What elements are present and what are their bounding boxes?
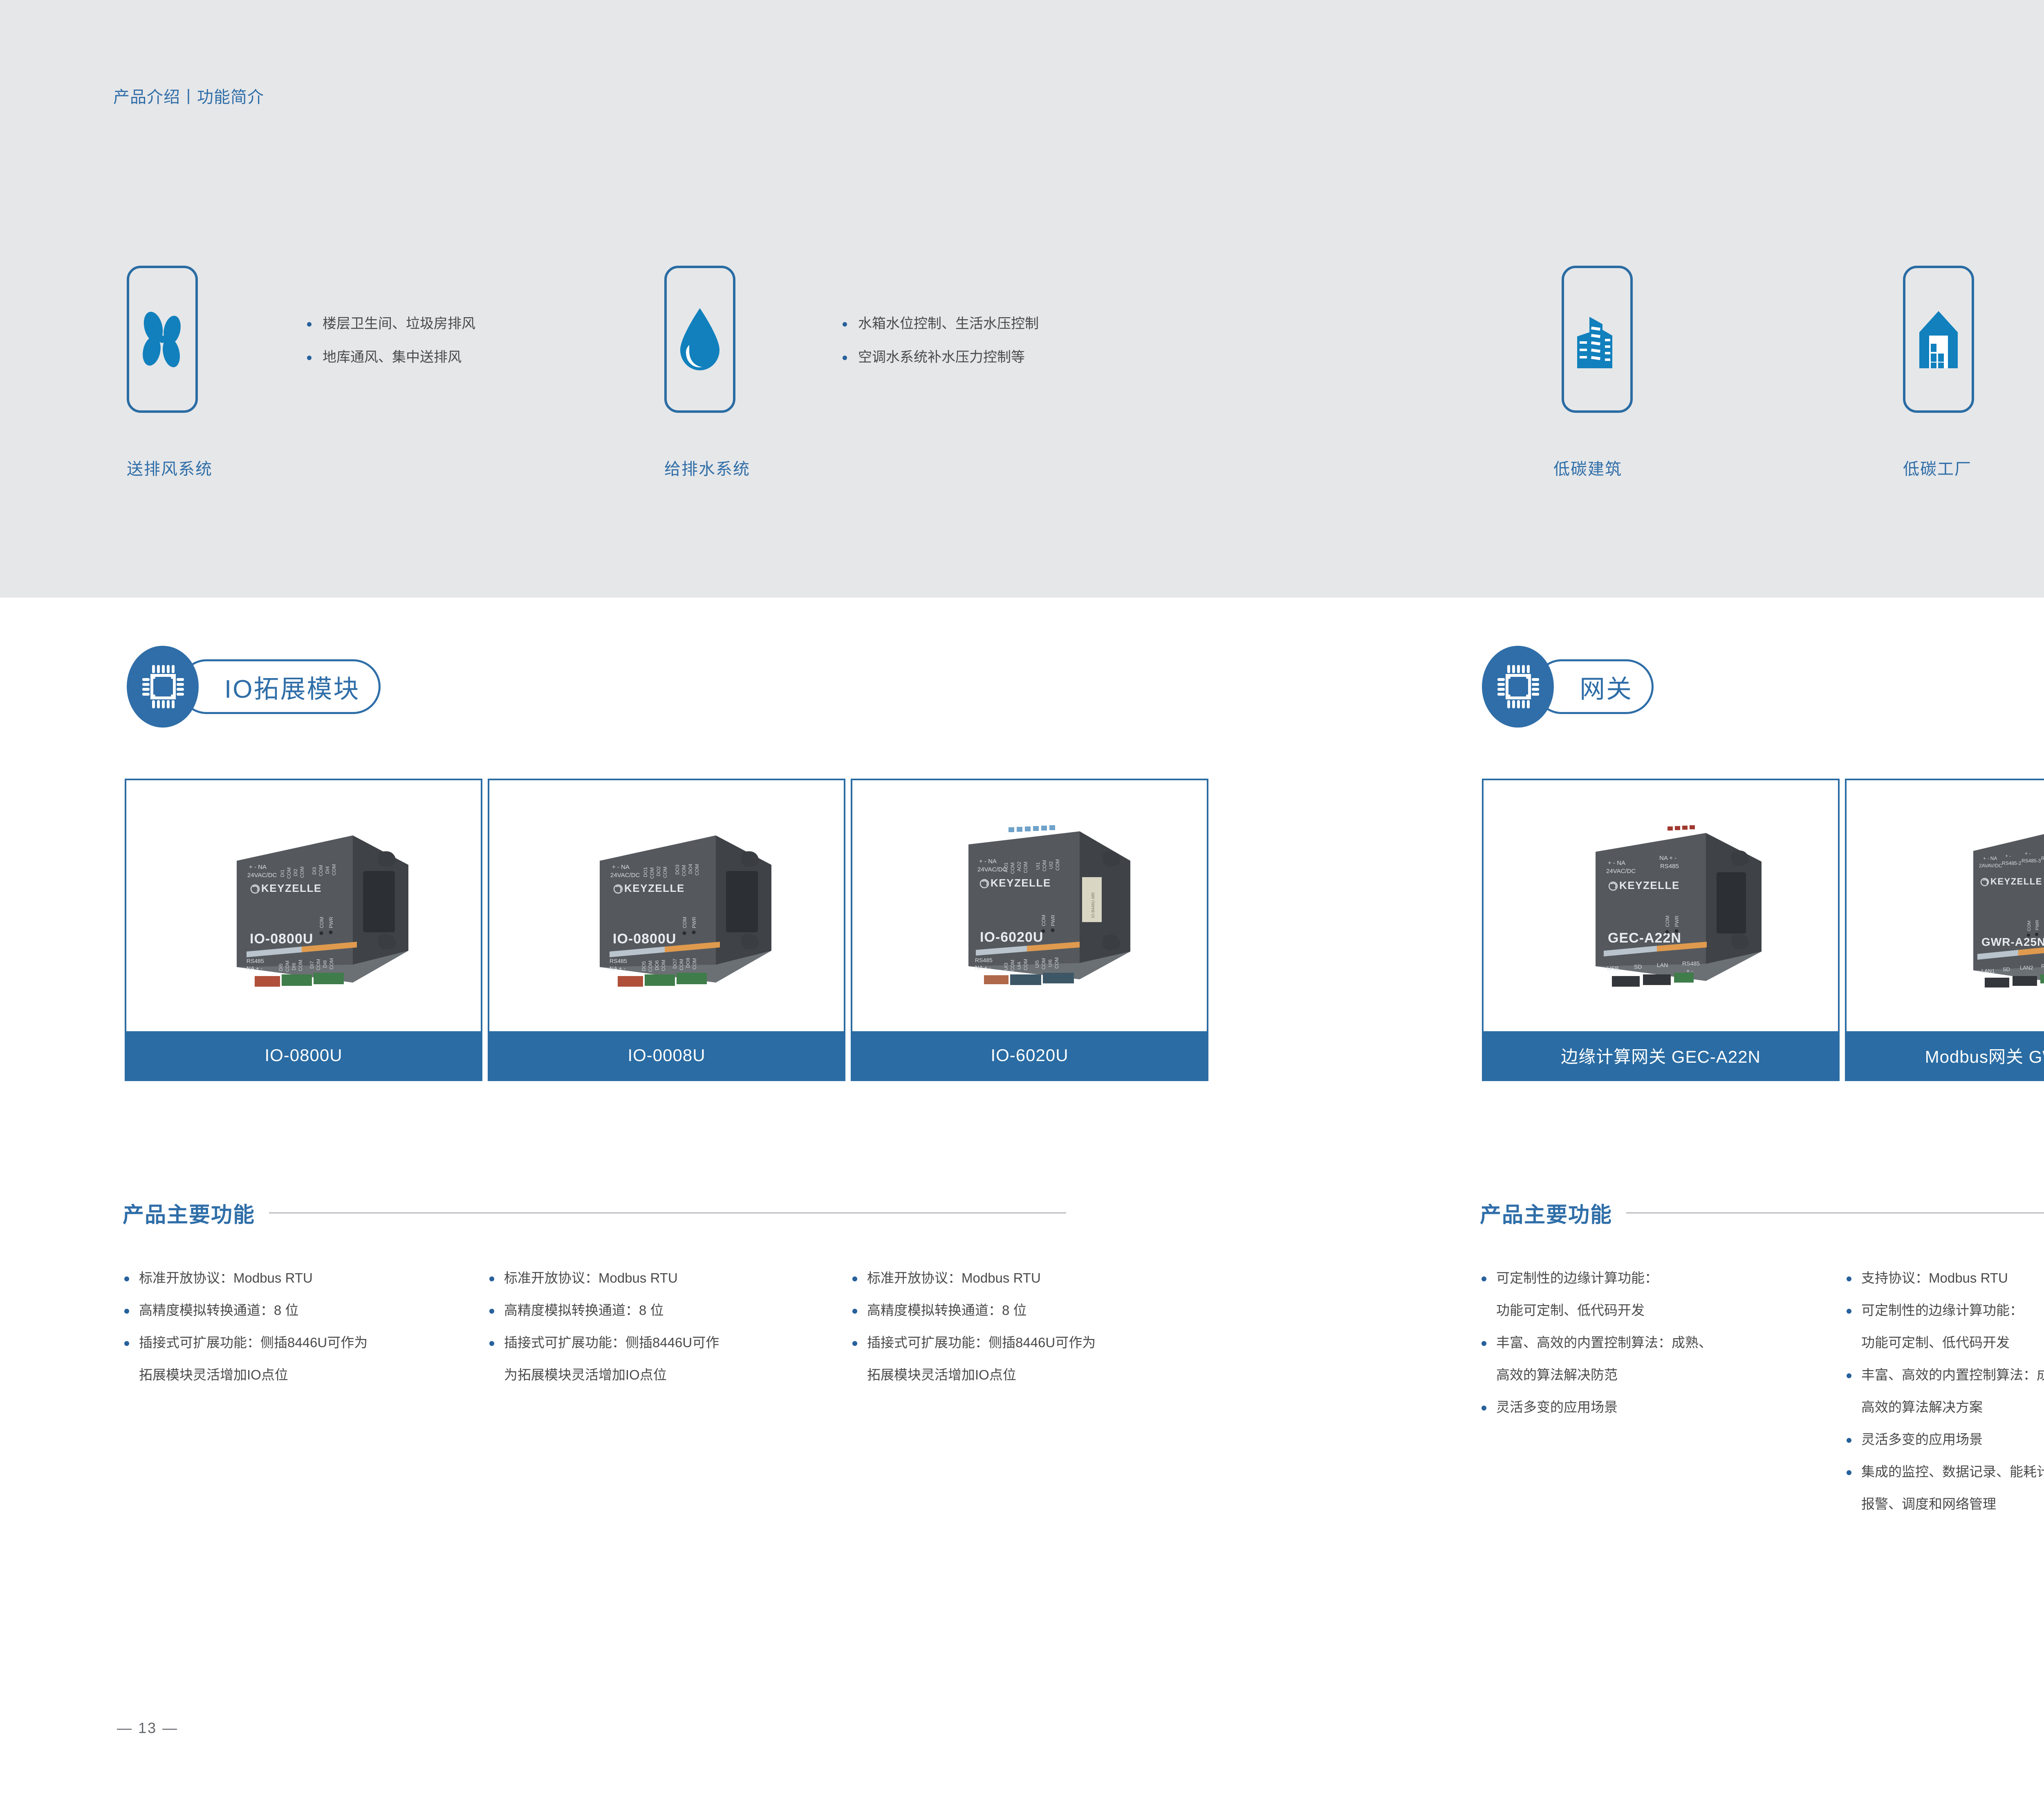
svg-text:DI3: DI3 — [312, 867, 317, 875]
svg-text:COM: COM — [298, 960, 303, 971]
svg-text:COM: COM — [1010, 960, 1015, 971]
product-card-gwr-a25n[interactable]: + - NA + - + - + - 2AVAV/DC RS485-2 RS48… — [1845, 779, 2044, 1081]
svg-text:KEYZELLE: KEYZELLE — [624, 882, 685, 894]
svg-text:SD: SD — [1634, 963, 1642, 970]
svg-text:COM: COM — [299, 867, 305, 878]
target-label-factory: 低碳工厂 — [1903, 456, 1972, 479]
svg-text:RS485: RS485 — [1682, 960, 1700, 967]
svg-text:DO8: DO8 — [685, 958, 691, 968]
feature-line-2: 拓展模块灵活增加IO点位 — [139, 1368, 474, 1382]
svg-text:24VAC/DC: 24VAC/DC — [1606, 868, 1636, 875]
svg-text:COM: COM — [692, 958, 697, 970]
svg-text:+ - NA: + - NA — [1983, 855, 1997, 861]
feature-line-1: 高精度模拟转换通道：8 位 — [504, 1303, 664, 1318]
target-tile-factory — [1903, 266, 1974, 413]
feature-item: 可定制性的边缘计算功能： 功能可定制、低代码开发 — [1845, 1303, 2044, 1349]
svg-text:COM: COM — [649, 867, 655, 879]
svg-text:RS485: RS485 — [975, 957, 993, 963]
features-header-io: 产品主要功能 — [123, 1198, 1210, 1228]
feature-item: 丰富、高效的内置控制算法：成熟、 高效的算法解决方案 — [1845, 1368, 2044, 1414]
features-title: 产品主要功能 — [123, 1198, 255, 1228]
feature-line-2: 高效的算法解决方案 — [1861, 1400, 2044, 1414]
feature-item: 插接式可扩展功能：侧插8446U可作 为拓展模块灵活增加IO点位 — [488, 1336, 839, 1382]
svg-text:COM: COM — [694, 864, 700, 875]
feature-line-1: 灵活多变的应用场景 — [1861, 1432, 1983, 1447]
svg-text:+ -: + - — [2005, 853, 2011, 859]
feature-line-1: 集成的监控、数据记录、能耗计量、 — [1861, 1464, 2044, 1479]
list-item: 楼层卫生间、垃圾房排风 — [305, 317, 475, 331]
svg-text:NA + -: NA + - — [1659, 855, 1676, 862]
svg-text:DI5: DI5 — [278, 963, 284, 971]
svg-text:+ - NA: + - NA — [979, 858, 997, 865]
product-caption: IO-6020U — [852, 1031, 1207, 1079]
svg-text:UI2: UI2 — [1048, 861, 1054, 869]
feature-item: 灵活多变的应用场景 — [1480, 1400, 1831, 1414]
feature-item: 标准开放协议：Modbus RTU — [123, 1271, 474, 1285]
features-column-2: 标准开放协议：Modbus RTU 高精度模拟转换通道：8 位 插接式可扩展功能… — [488, 1271, 839, 1382]
product-caption: IO-0008U — [489, 1031, 844, 1079]
svg-text:DO3: DO3 — [675, 864, 680, 875]
svg-text:LAN2: LAN2 — [2020, 965, 2033, 971]
svg-text:AO1: AO1 — [1003, 862, 1009, 872]
section-badge-io: IO拓展模块 — [127, 646, 421, 728]
feature-line-1: 丰富、高效的内置控制算法：成熟、 — [1496, 1335, 1712, 1350]
feature-line-2: 为拓展模块灵活增加IO点位 — [504, 1368, 839, 1382]
chip-icon — [1482, 646, 1554, 728]
gateway-features-column-2: 支持协议：Modbus RTU 可定制性的边缘计算功能： 功能可定制、低代码开发… — [1845, 1271, 2044, 1511]
feature-item: 高精度模拟转换通道：8 位 — [851, 1303, 1210, 1317]
feature-line-2: 拓展模块灵活增加IO点位 — [867, 1368, 1210, 1382]
product-image: + - NA 24VAC/DC DO1 COM DO2 COM DO3 COM … — [489, 780, 844, 1031]
svg-text:COM: COM — [679, 959, 684, 970]
product-card-gec-a22n[interactable]: + - NA 24VAC/DC NA + - RS485 KEYZELLE GE… — [1482, 779, 1840, 1081]
list-item: 地库通风、集中送排风 — [305, 350, 475, 364]
feature-line-1: 标准开放协议：Modbus RTU — [139, 1270, 313, 1285]
svg-text:LAN1: LAN1 — [1981, 968, 1995, 974]
svg-text:COM: COM — [1042, 860, 1047, 871]
product-image: IO-8446U 485 + - NA 24VAC/DC AO1 COM AO2… — [852, 780, 1207, 1031]
feature-item: 集成的监控、数据记录、能耗计量、 报警、调度和网络管理 — [1845, 1465, 2044, 1511]
svg-text:DI4: DI4 — [325, 866, 330, 874]
target-tile-building — [1562, 266, 1633, 413]
section-badge-gateway: 网关 — [1482, 646, 1703, 728]
product-caption: 边缘计算网关 GEC-A22N — [1484, 1031, 1838, 1079]
svg-text:COM: COM — [1023, 862, 1029, 873]
svg-text:+ - NA: + - NA — [249, 864, 267, 871]
svg-text:DI8: DI8 — [322, 960, 328, 968]
svg-text:PWR: PWR — [1674, 916, 1680, 927]
feature-item: 高精度模拟转换通道：8 位 — [123, 1303, 474, 1317]
svg-text:KEYZELLE: KEYZELLE — [1619, 879, 1680, 891]
product-card-io-6020u[interactable]: IO-8446U 485 + - NA 24VAC/DC AO1 COM AO2… — [851, 779, 1208, 1081]
svg-text:KEYZELLE: KEYZELLE — [991, 877, 1051, 889]
svg-text:+ - NA: + - NA — [612, 864, 630, 871]
feature-line-1: 可定制性的边缘计算功能： — [1496, 1270, 1658, 1285]
svg-text:24VAC/DC: 24VAC/DC — [610, 872, 640, 879]
svg-text:RS485-1: RS485-1 — [2041, 963, 2044, 969]
svg-text:DI1: DI1 — [280, 869, 285, 877]
svg-text:RS485: RS485 — [610, 958, 627, 964]
svg-text:NA + -: NA + - — [975, 964, 991, 971]
scenario-label-fan: 送排风系统 — [127, 456, 213, 479]
svg-text:24VAC/DC: 24VAC/DC — [977, 866, 1007, 873]
svg-text:PWR: PWR — [1050, 915, 1056, 926]
svg-text:RS485-4: RS485-4 — [2041, 855, 2044, 861]
svg-text:DO7: DO7 — [672, 958, 678, 969]
scenario-bullets-water: 水箱水位控制、生活水压控制 空调水系统补水压力控制等 — [840, 317, 1039, 364]
svg-text:DI6: DI6 — [291, 963, 297, 970]
svg-text:UI1: UI1 — [1035, 862, 1041, 870]
divider-rule — [269, 1212, 1066, 1214]
svg-text:DO2: DO2 — [656, 866, 661, 876]
svg-text:COM: COM — [1054, 957, 1060, 969]
feature-line-2: 功能可定制、低代码开发 — [1496, 1303, 1831, 1317]
product-image: + - NA 24VAC/DC NA + - RS485 KEYZELLE GE… — [1484, 780, 1838, 1031]
svg-text:UI6: UI6 — [1047, 959, 1053, 967]
feature-line-1: 插接式可扩展功能：侧插8446U可作 — [504, 1335, 719, 1350]
svg-text:COM: COM — [1041, 915, 1047, 926]
svg-text:COM: COM — [1010, 862, 1015, 874]
feature-line-1: 插接式可扩展功能：侧插8446U可作为 — [139, 1335, 368, 1350]
feature-line-1: 丰富、高效的内置控制算法：成熟、 — [1861, 1367, 2044, 1382]
svg-text:AO2: AO2 — [1016, 862, 1022, 871]
svg-text:COM: COM — [1041, 958, 1047, 970]
svg-text:DO6: DO6 — [654, 960, 660, 970]
feature-line-1: 高精度模拟转换通道：8 位 — [139, 1303, 299, 1318]
feature-item: 插接式可扩展功能：侧插8446U可作为 拓展模块灵活增加IO点位 — [851, 1336, 1210, 1382]
svg-text:SD: SD — [2003, 966, 2010, 972]
svg-text:LAN: LAN — [1657, 962, 1668, 968]
scenario-tile-water — [664, 266, 735, 413]
svg-text:KEYZELLE: KEYZELLE — [261, 882, 322, 894]
svg-text:USB: USB — [1607, 965, 1619, 972]
svg-text:COM: COM — [681, 865, 687, 876]
list-item: 空调水系统补水压力控制等 — [840, 350, 1039, 364]
feature-line-1: 灵活多变的应用场景 — [1496, 1399, 1618, 1415]
svg-text:COM: COM — [331, 864, 337, 875]
features-column-1: 标准开放协议：Modbus RTU 高精度模拟转换通道：8 位 插接式可扩展功能… — [123, 1271, 474, 1382]
svg-text:RS485-3: RS485-3 — [2022, 858, 2041, 864]
svg-text:RS485: RS485 — [1660, 863, 1679, 870]
svg-text:2AVAV/DC: 2AVAV/DC — [1979, 863, 2002, 869]
scenario-label-water: 给排水系统 — [664, 456, 750, 479]
svg-text:DO5: DO5 — [641, 961, 647, 971]
svg-text:COM: COM — [662, 867, 668, 878]
svg-text:IO-8446U 485: IO-8446U 485 — [1091, 892, 1096, 918]
svg-text:UI5: UI5 — [1034, 960, 1040, 968]
feature-line-2: 报警、调度和网络管理 — [1861, 1497, 2044, 1511]
feature-item: 支持协议：Modbus RTU — [1845, 1271, 2044, 1285]
features-header-gateway: 产品主要功能 — [1480, 1198, 2044, 1228]
svg-text:COM: COM — [329, 958, 334, 970]
svg-text:IO-0800U: IO-0800U — [250, 931, 313, 947]
feature-item: 丰富、高效的内置控制算法：成熟、 高效的算法解决防范 — [1480, 1336, 1831, 1382]
svg-text:PWR: PWR — [2035, 920, 2040, 930]
running-head-left: 产品介绍丨功能简介 — [113, 84, 264, 107]
section-title: 网关 — [1580, 668, 1633, 705]
product-caption: Modbus网关 GWR-A25N — [1847, 1031, 2044, 1079]
svg-text:COM: COM — [286, 867, 292, 879]
svg-text:COM: COM — [319, 917, 325, 928]
svg-text:+ - NA: + - NA — [1608, 860, 1625, 867]
chip-icon — [127, 646, 199, 728]
svg-text:GWR-A25N: GWR-A25N — [1981, 936, 2044, 948]
feature-item: 高精度模拟转换通道：8 位 — [488, 1303, 839, 1317]
gateway-features-column-1: 可定制性的边缘计算功能： 功能可定制、低代码开发 丰富、高效的内置控制算法：成熟… — [1480, 1271, 1831, 1414]
svg-text:UI4: UI4 — [1016, 962, 1022, 970]
svg-text:COM: COM — [1665, 916, 1670, 927]
svg-text:DI2: DI2 — [293, 869, 298, 876]
svg-text:DI7: DI7 — [309, 961, 315, 969]
feature-line-1: 标准开放协议：Modbus RTU — [504, 1270, 678, 1285]
features-title: 产品主要功能 — [1480, 1198, 1612, 1228]
badge-pill: IO拓展模块 — [179, 659, 381, 714]
scenario-bullets-fan: 楼层卫生间、垃圾房排风 地库通风、集中送排风 — [305, 317, 475, 364]
svg-text:COM: COM — [661, 960, 666, 971]
svg-text:COM: COM — [648, 961, 653, 972]
svg-text:COM: COM — [316, 959, 321, 970]
feature-item: 插接式可扩展功能：侧插8446U可作为 拓展模块灵活增加IO点位 — [123, 1336, 474, 1382]
feature-item: 可定制性的边缘计算功能： 功能可定制、低代码开发 — [1480, 1271, 1831, 1317]
product-image: + - NA 24VAC/DC DI1 COM DI2 COM DI3 COM … — [126, 780, 481, 1031]
svg-text:COM: COM — [318, 865, 324, 876]
svg-text:COM: COM — [682, 917, 688, 928]
brochure-spread: 产品介绍丨功能简介 产品介绍丨功能简介 送排风系统 楼层卫生间、垃圾房排风 地库… — [0, 0, 2044, 1798]
svg-text:24VAC/DC: 24VAC/DC — [247, 872, 277, 879]
top-grey-band — [0, 0, 2044, 598]
svg-text:RS485-2: RS485-2 — [2002, 860, 2022, 866]
svg-text:+ -: + - — [2025, 851, 2031, 856]
svg-text:DO1: DO1 — [643, 867, 648, 877]
svg-text:COM: COM — [1023, 959, 1029, 970]
svg-text:IO-0800U: IO-0800U — [613, 931, 676, 947]
feature-line-2: 功能可定制、低代码开发 — [1861, 1336, 2044, 1349]
svg-text:PWR: PWR — [328, 917, 334, 928]
svg-text:COM: COM — [2027, 920, 2032, 931]
svg-text:COM: COM — [285, 961, 290, 972]
features-column-3: 标准开放协议：Modbus RTU 高精度模拟转换通道：8 位 插接式可扩展功能… — [851, 1271, 1210, 1382]
product-card-io-0008u[interactable]: + - NA 24VAC/DC DO1 COM DO2 COM DO3 COM … — [488, 779, 845, 1081]
feature-line-1: 支持协议：Modbus RTU — [1861, 1270, 2008, 1285]
svg-text:IO-6020U: IO-6020U — [980, 929, 1043, 945]
product-image: + - NA + - + - + - 2AVAV/DC RS485-2 RS48… — [1847, 780, 2044, 1031]
svg-text:NA + -: NA + - — [247, 965, 263, 972]
divider-rule — [1626, 1212, 2044, 1214]
feature-line-1: 高精度模拟转换通道：8 位 — [867, 1303, 1027, 1318]
target-label-building: 低碳建筑 — [1553, 456, 1622, 479]
section-title: IO拓展模块 — [224, 668, 360, 705]
feature-line-1: 可定制性的边缘计算功能： — [1861, 1303, 2023, 1318]
feature-line-2: 高效的算法解决防范 — [1496, 1368, 1831, 1382]
svg-text:GEC-A22N: GEC-A22N — [1608, 930, 1681, 946]
product-caption: IO-0800U — [126, 1031, 481, 1079]
page-number-left: — 13 — — [117, 1720, 178, 1737]
product-card-io-0800u[interactable]: + - NA 24VAC/DC DI1 COM DI2 COM DI3 COM … — [125, 779, 482, 1081]
feature-line-1: 插接式可扩展功能：侧插8446U可作为 — [867, 1335, 1096, 1350]
svg-text:NA + -: NA + - — [610, 965, 626, 972]
svg-text:RS485: RS485 — [247, 958, 264, 964]
svg-text:KEYZELLE: KEYZELLE — [1990, 876, 2042, 887]
feature-line-1: 标准开放协议：Modbus RTU — [867, 1270, 1041, 1285]
list-item: 水箱水位控制、生活水压控制 — [840, 317, 1039, 331]
svg-text:PWR: PWR — [691, 917, 697, 928]
scenario-tile-fan — [127, 266, 198, 413]
feature-item: 标准开放协议：Modbus RTU — [488, 1271, 839, 1285]
svg-text:COM: COM — [1055, 859, 1060, 871]
svg-text:DO4: DO4 — [688, 864, 693, 874]
feature-item: 灵活多变的应用场景 — [1845, 1433, 2044, 1446]
feature-item: 标准开放协议：Modbus RTU — [851, 1271, 1210, 1285]
svg-text:UI3: UI3 — [1003, 963, 1009, 970]
